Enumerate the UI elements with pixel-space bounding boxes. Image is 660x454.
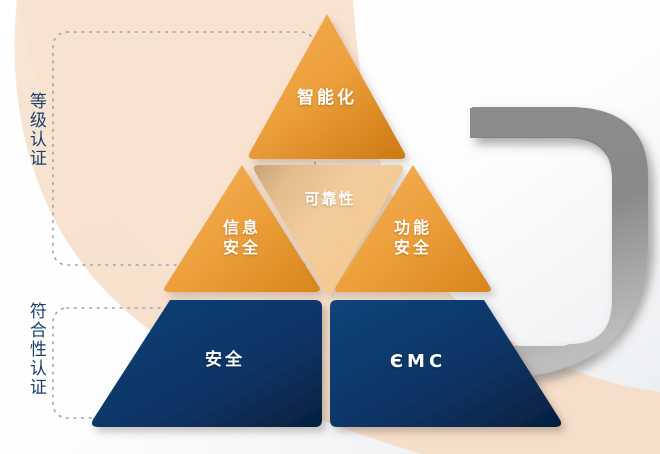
tier-block-safety[interactable] — [92, 300, 322, 427]
side-label-compliance-certification: 符合性认证 — [26, 302, 44, 397]
diagram-shapes — [0, 0, 660, 454]
tier-block-intelligence[interactable] — [249, 14, 406, 159]
side-label-grade-certification: 等级认证 — [26, 92, 44, 168]
diagram-canvas: 等级认证 符合性认证 智能化 信息 安全 可靠性 功能 安全 安全 ЄMC — [0, 0, 660, 454]
